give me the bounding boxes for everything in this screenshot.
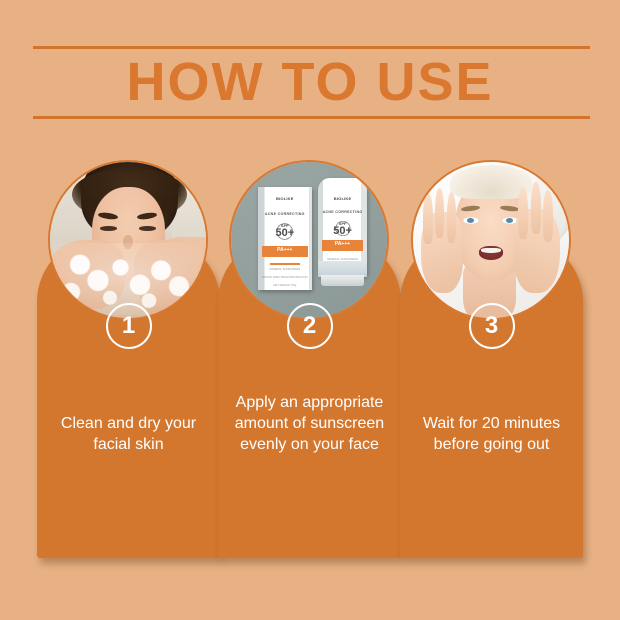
- steps-container: 1 Clean and dry your facial skin BIOLIKE…: [0, 160, 620, 580]
- page-title: HOW TO USE: [0, 50, 620, 114]
- step-caption: Apply an appropriate amount of sunscreen…: [226, 392, 393, 455]
- how-to-use-infographic: HOW TO USE: [0, 0, 620, 620]
- product-spf-value: 50+: [318, 226, 366, 237]
- step-caption: Wait for 20 minutes before going out: [408, 413, 575, 455]
- product-brand: BIOLIKE: [258, 196, 313, 201]
- title-divider-top: [33, 46, 590, 49]
- product-claim: MINERAL SUNSCREEN: [258, 267, 313, 271]
- product-box: BIOLIKE ACNE CORRECTING SPF 50+ PA+++ MI…: [258, 187, 313, 290]
- step-card-2: BIOLIKE ACNE CORRECTING SPF 50+ PA+++ MI…: [218, 160, 401, 570]
- step-card-3: 3 Wait for 20 minutes before going out: [400, 160, 583, 570]
- step-caption: Clean and dry your facial skin: [45, 413, 212, 455]
- product-spf-value: 50+: [258, 228, 313, 239]
- product-subclaim: BROAD SPECTRUM PROTECTION: [258, 275, 313, 279]
- title-divider-bottom: [33, 116, 590, 119]
- woman-applying-cream-photo: [411, 160, 571, 320]
- step-number-badge: 1: [106, 303, 152, 349]
- woman-washing-face-photo: [48, 160, 208, 320]
- product-pa-rating: PA+++: [262, 246, 308, 257]
- product-name: ACNE CORRECTING: [318, 210, 366, 214]
- product-net-weight: NET WEIGHT 50g: [258, 283, 313, 287]
- product-brand: BIOLIKE: [318, 196, 366, 201]
- sunscreen-product-photo: BIOLIKE ACNE CORRECTING SPF 50+ PA+++ MI…: [229, 160, 389, 320]
- product-name: ACNE CORRECTING: [258, 212, 313, 216]
- header: HOW TO USE: [0, 0, 620, 140]
- product-pa-rating: PA+++: [322, 240, 363, 251]
- step-card-1: 1 Clean and dry your facial skin: [37, 160, 220, 570]
- step-number-badge: 2: [287, 303, 333, 349]
- product-tube: BIOLIKE ACNE CORRECTING SPF 50+ PA+++ MI…: [318, 178, 366, 278]
- step-number-badge: 3: [469, 303, 515, 349]
